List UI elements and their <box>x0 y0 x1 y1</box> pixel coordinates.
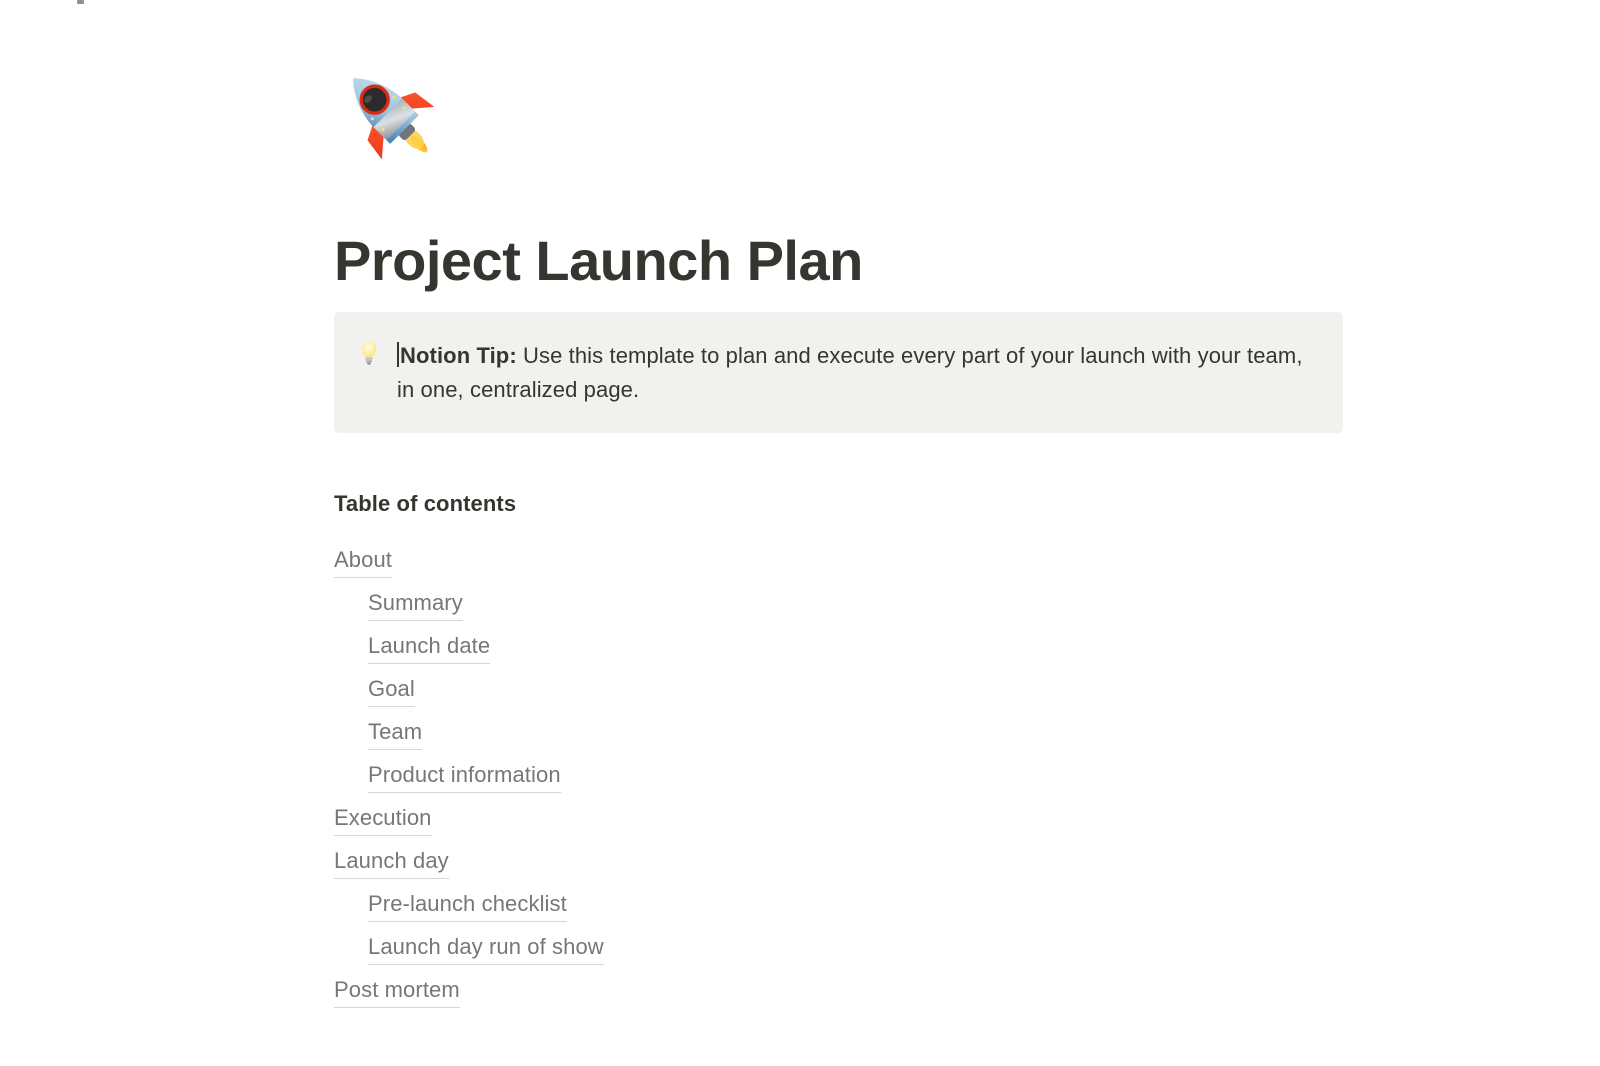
table-of-contents: About Summary Launch date Goal Team Prod… <box>334 538 1034 1011</box>
lightbulb-icon[interactable] <box>356 339 382 369</box>
notion-tip-callout[interactable]: Notion Tip: Use this template to plan an… <box>334 312 1343 433</box>
toc-link-label: About <box>334 544 392 578</box>
toc-link-post-mortem[interactable]: Post mortem <box>334 968 1034 1011</box>
toc-link-label: Post mortem <box>334 974 460 1008</box>
page-title[interactable]: Project Launch Plan <box>334 228 863 294</box>
toc-link-launch-day-run-of-show[interactable]: Launch day run of show <box>334 925 1034 968</box>
toc-link-label: Product information <box>368 759 561 793</box>
notion-page: Project Launch Plan <box>0 0 1600 1066</box>
toc-link-launch-day[interactable]: Launch day <box>334 839 1034 882</box>
toc-link-goal[interactable]: Goal <box>334 667 1034 710</box>
toc-link-label: Execution <box>334 802 432 836</box>
toc-link-label: Launch day <box>334 845 449 879</box>
toc-link-label: Summary <box>368 587 463 621</box>
toc-link-label: Goal <box>368 673 415 707</box>
toc-link-product-information[interactable]: Product information <box>334 753 1034 796</box>
toc-link-execution[interactable]: Execution <box>334 796 1034 839</box>
callout-text[interactable]: Notion Tip: Use this template to plan an… <box>397 339 1313 407</box>
table-of-contents-heading[interactable]: Table of contents <box>334 489 516 518</box>
toc-link-label: Team <box>368 716 422 750</box>
rocket-icon[interactable] <box>335 60 445 170</box>
window-chrome-sliver <box>77 0 84 4</box>
callout-body-text: Use this template to plan and execute ev… <box>397 343 1303 402</box>
toc-link-team[interactable]: Team <box>334 710 1034 753</box>
toc-link-about[interactable]: About <box>334 538 1034 581</box>
toc-link-label: Launch day run of show <box>368 931 604 965</box>
toc-link-summary[interactable]: Summary <box>334 581 1034 624</box>
toc-link-launch-date[interactable]: Launch date <box>334 624 1034 667</box>
toc-link-label: Launch date <box>368 630 490 664</box>
toc-link-pre-launch-checklist[interactable]: Pre-launch checklist <box>334 882 1034 925</box>
toc-link-label: Pre-launch checklist <box>368 888 567 922</box>
text-cursor <box>397 342 399 367</box>
callout-strong-label: Notion Tip: <box>400 343 517 368</box>
